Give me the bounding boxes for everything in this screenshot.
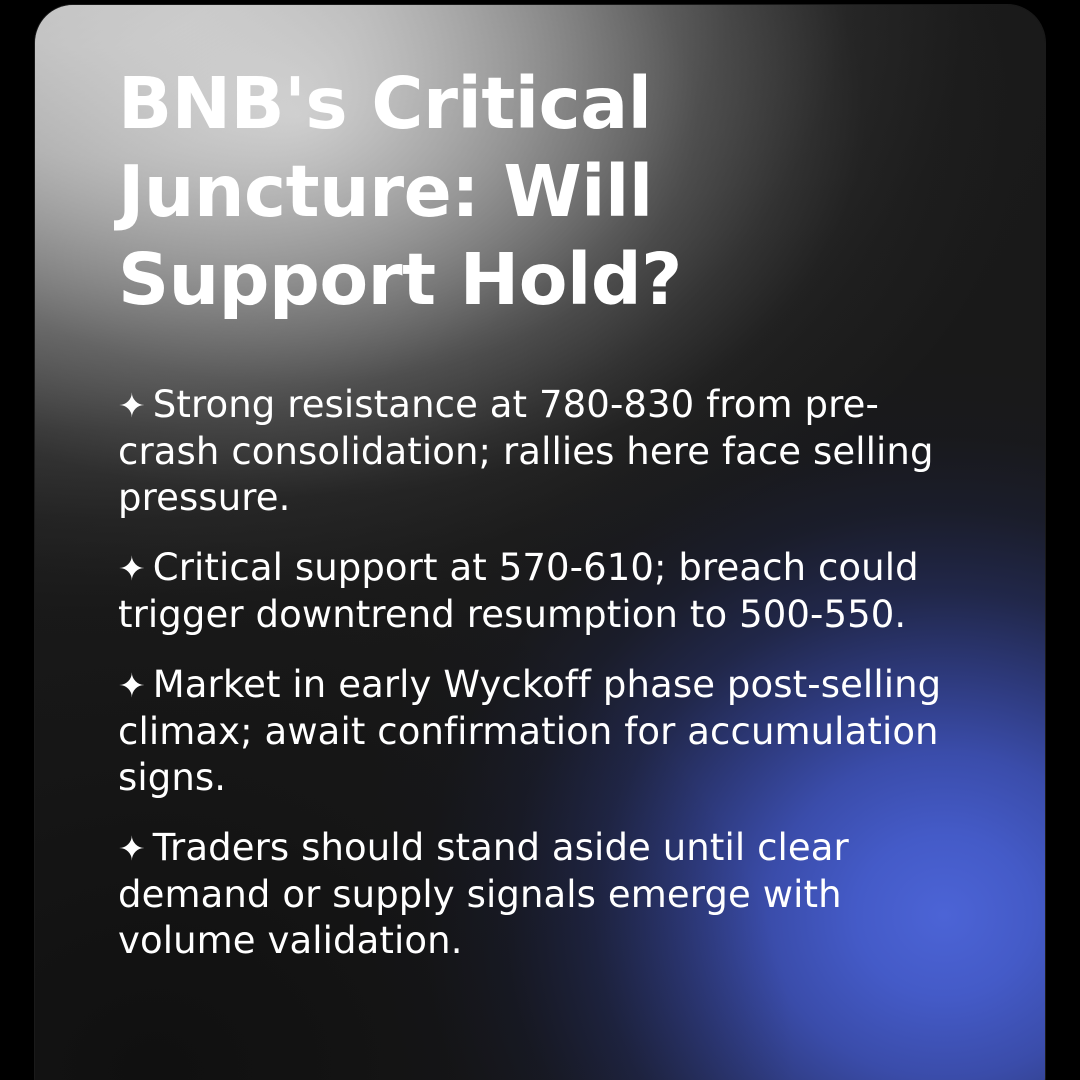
content-card: BNB's Critical Juncture: Will Support Ho… xyxy=(35,5,1045,1080)
bullet-list: ✦Strong resistance at 780-830 from pre-c… xyxy=(118,382,978,964)
headline: BNB's Critical Juncture: Will Support Ho… xyxy=(118,60,978,324)
bullet-text: Critical support at 570-610; breach coul… xyxy=(118,546,919,636)
four-pointed-star-icon: ✦ xyxy=(118,386,153,425)
screenshot-canvas: BNB's Critical Juncture: Will Support Ho… xyxy=(0,0,1080,1080)
four-pointed-star-icon: ✦ xyxy=(118,549,153,588)
bullet-text: Traders should stand aside until clear d… xyxy=(118,826,849,962)
bullet-text: Strong resistance at 780-830 from pre-cr… xyxy=(118,383,934,519)
card-content: BNB's Critical Juncture: Will Support Ho… xyxy=(118,60,978,964)
bullet-item: ✦Critical support at 570-610; breach cou… xyxy=(118,545,978,638)
four-pointed-star-icon: ✦ xyxy=(118,829,153,868)
bullet-item: ✦Strong resistance at 780-830 from pre-c… xyxy=(118,382,978,521)
bullet-text: Market in early Wyckoff phase post-selli… xyxy=(118,663,941,799)
four-pointed-star-icon: ✦ xyxy=(118,666,153,705)
bullet-item: ✦Market in early Wyckoff phase post-sell… xyxy=(118,662,978,801)
bullet-item: ✦Traders should stand aside until clear … xyxy=(118,825,978,964)
